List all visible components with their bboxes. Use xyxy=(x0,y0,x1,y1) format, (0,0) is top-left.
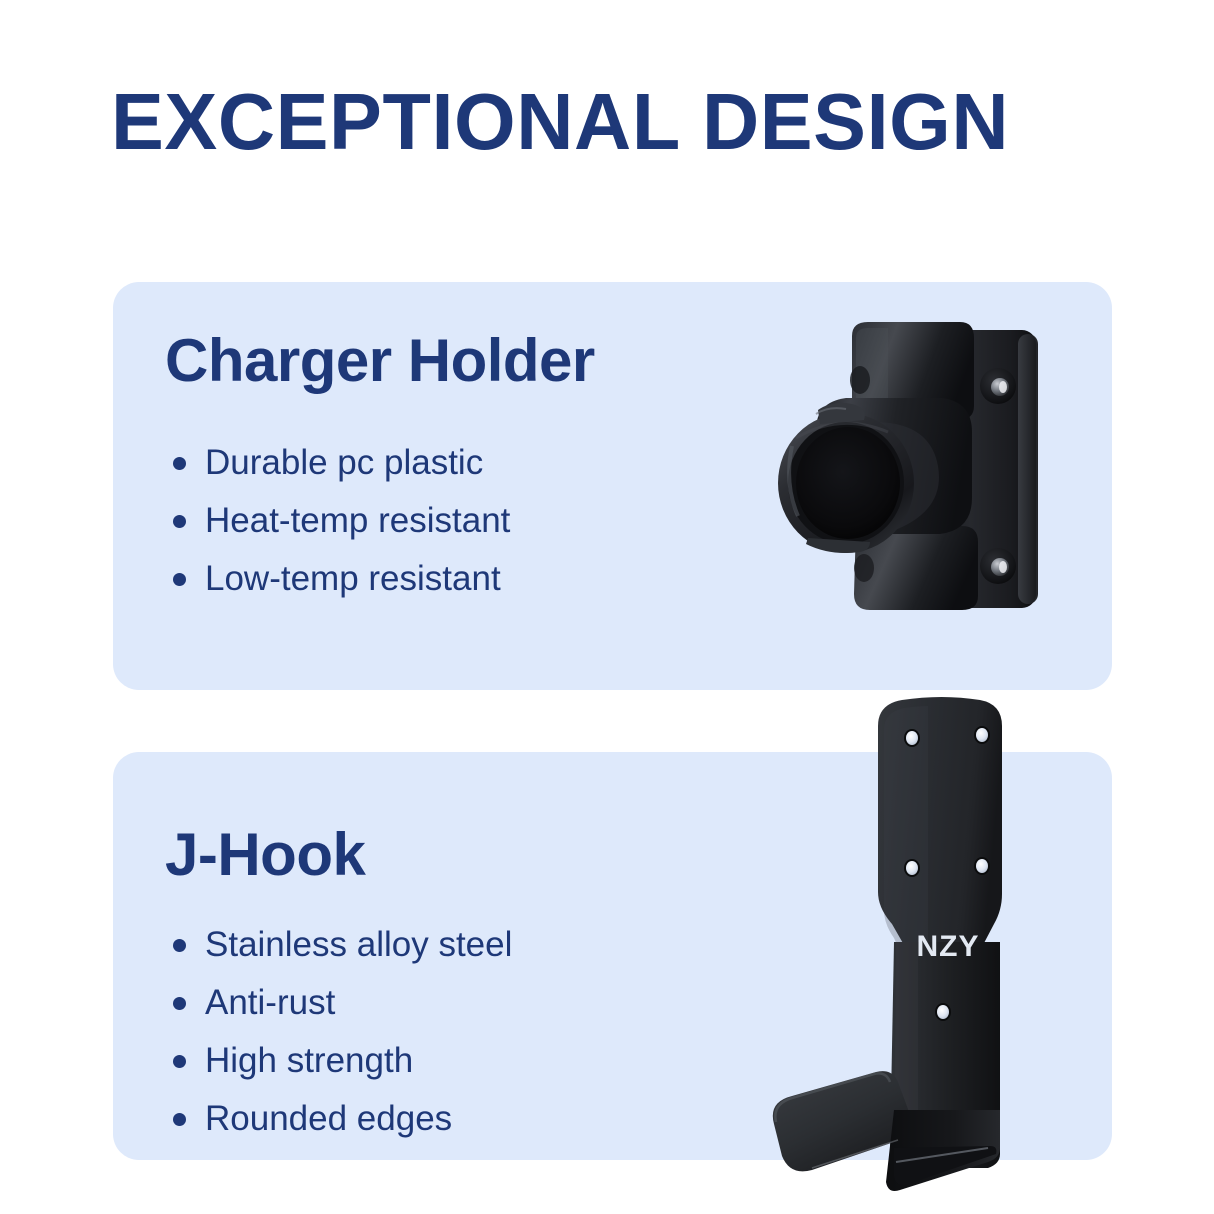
infographic-page: EXCEPTIONAL DESIGN Charger Holder Durabl… xyxy=(0,0,1214,1214)
list-item-label: Stainless alloy steel xyxy=(205,925,512,965)
card-title-charger-holder: Charger Holder xyxy=(165,326,595,395)
bullet-dot-icon xyxy=(173,1055,186,1068)
bullet-dot-icon xyxy=(173,997,186,1010)
list-item-label: Heat-temp resistant xyxy=(205,501,510,541)
page-title: EXCEPTIONAL DESIGN xyxy=(111,80,1121,164)
bullet-dot-icon xyxy=(173,515,186,528)
screw-lower xyxy=(980,548,1016,584)
j-hook-photo: NZY xyxy=(760,690,1070,1212)
list-item-label: Anti-rust xyxy=(205,983,335,1023)
list-item: Rounded edges xyxy=(173,1090,512,1148)
list-item: Heat-temp resistant xyxy=(173,492,510,550)
brand-mark-nzy: NZY xyxy=(917,930,980,963)
card-title-j-hook: J-Hook xyxy=(165,820,365,889)
feature-list-charger-holder: Durable pc plastic Heat-temp resistant L… xyxy=(173,434,510,608)
bullet-dot-icon xyxy=(173,457,186,470)
screw-upper xyxy=(980,368,1016,404)
bullet-dot-icon xyxy=(173,1113,186,1126)
mounting-hole-mid-right xyxy=(974,857,990,875)
mounting-hole-lower-center xyxy=(935,1003,951,1021)
list-item: Anti-rust xyxy=(173,974,512,1032)
bullet-dot-icon xyxy=(173,939,186,952)
list-item: Low-temp resistant xyxy=(173,550,510,608)
list-item: High strength xyxy=(173,1032,512,1090)
bullet-dot-icon xyxy=(173,573,186,586)
charger-holder-photo xyxy=(756,318,1056,628)
list-item-label: High strength xyxy=(205,1041,413,1081)
mounting-hole-top-left xyxy=(904,729,920,747)
socket-ring xyxy=(778,413,914,553)
list-item-label: Rounded edges xyxy=(205,1099,452,1139)
mounting-hole-mid-left xyxy=(904,859,920,877)
list-item-label: Low-temp resistant xyxy=(205,559,501,599)
mounting-hole-top-right xyxy=(974,726,990,744)
list-item: Stainless alloy steel xyxy=(173,916,512,974)
list-item-label: Durable pc plastic xyxy=(205,443,483,483)
feature-list-j-hook: Stainless alloy steel Anti-rust High str… xyxy=(173,916,512,1148)
list-item: Durable pc plastic xyxy=(173,434,510,492)
